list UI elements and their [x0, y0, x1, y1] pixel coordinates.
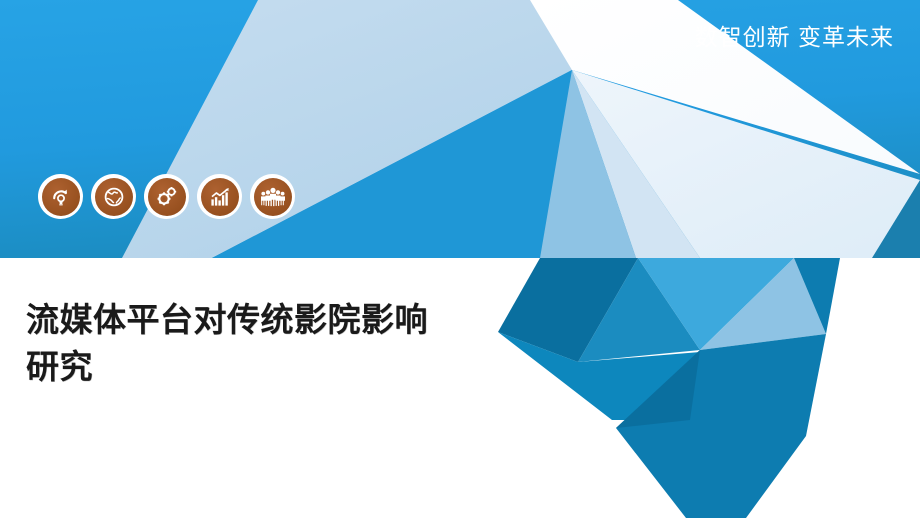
globe-icon: [95, 178, 133, 216]
bar-chart-icon: [201, 178, 239, 216]
page-title-line-2: 研究: [26, 343, 546, 390]
icon-badge-3[interactable]: [144, 174, 189, 219]
icon-badge-2[interactable]: [91, 174, 136, 219]
icon-badge-1[interactable]: [38, 174, 83, 219]
tagline: 数智创新 变革未来: [695, 26, 894, 49]
icon-badge-4[interactable]: [197, 174, 242, 219]
people-group-icon: [254, 178, 292, 216]
icon-badge-strip: [38, 174, 295, 219]
page-title: 流媒体平台对传统影院影响 研究: [26, 296, 546, 390]
page-title-line-1: 流媒体平台对传统影院影响: [26, 296, 546, 343]
slide-cover: 数智创新 变革未来: [0, 0, 920, 518]
gears-icon: [148, 178, 186, 216]
refresh-idea-icon: [42, 178, 80, 216]
icon-badge-5[interactable]: [250, 174, 295, 219]
polygon-artwork: [0, 0, 920, 518]
